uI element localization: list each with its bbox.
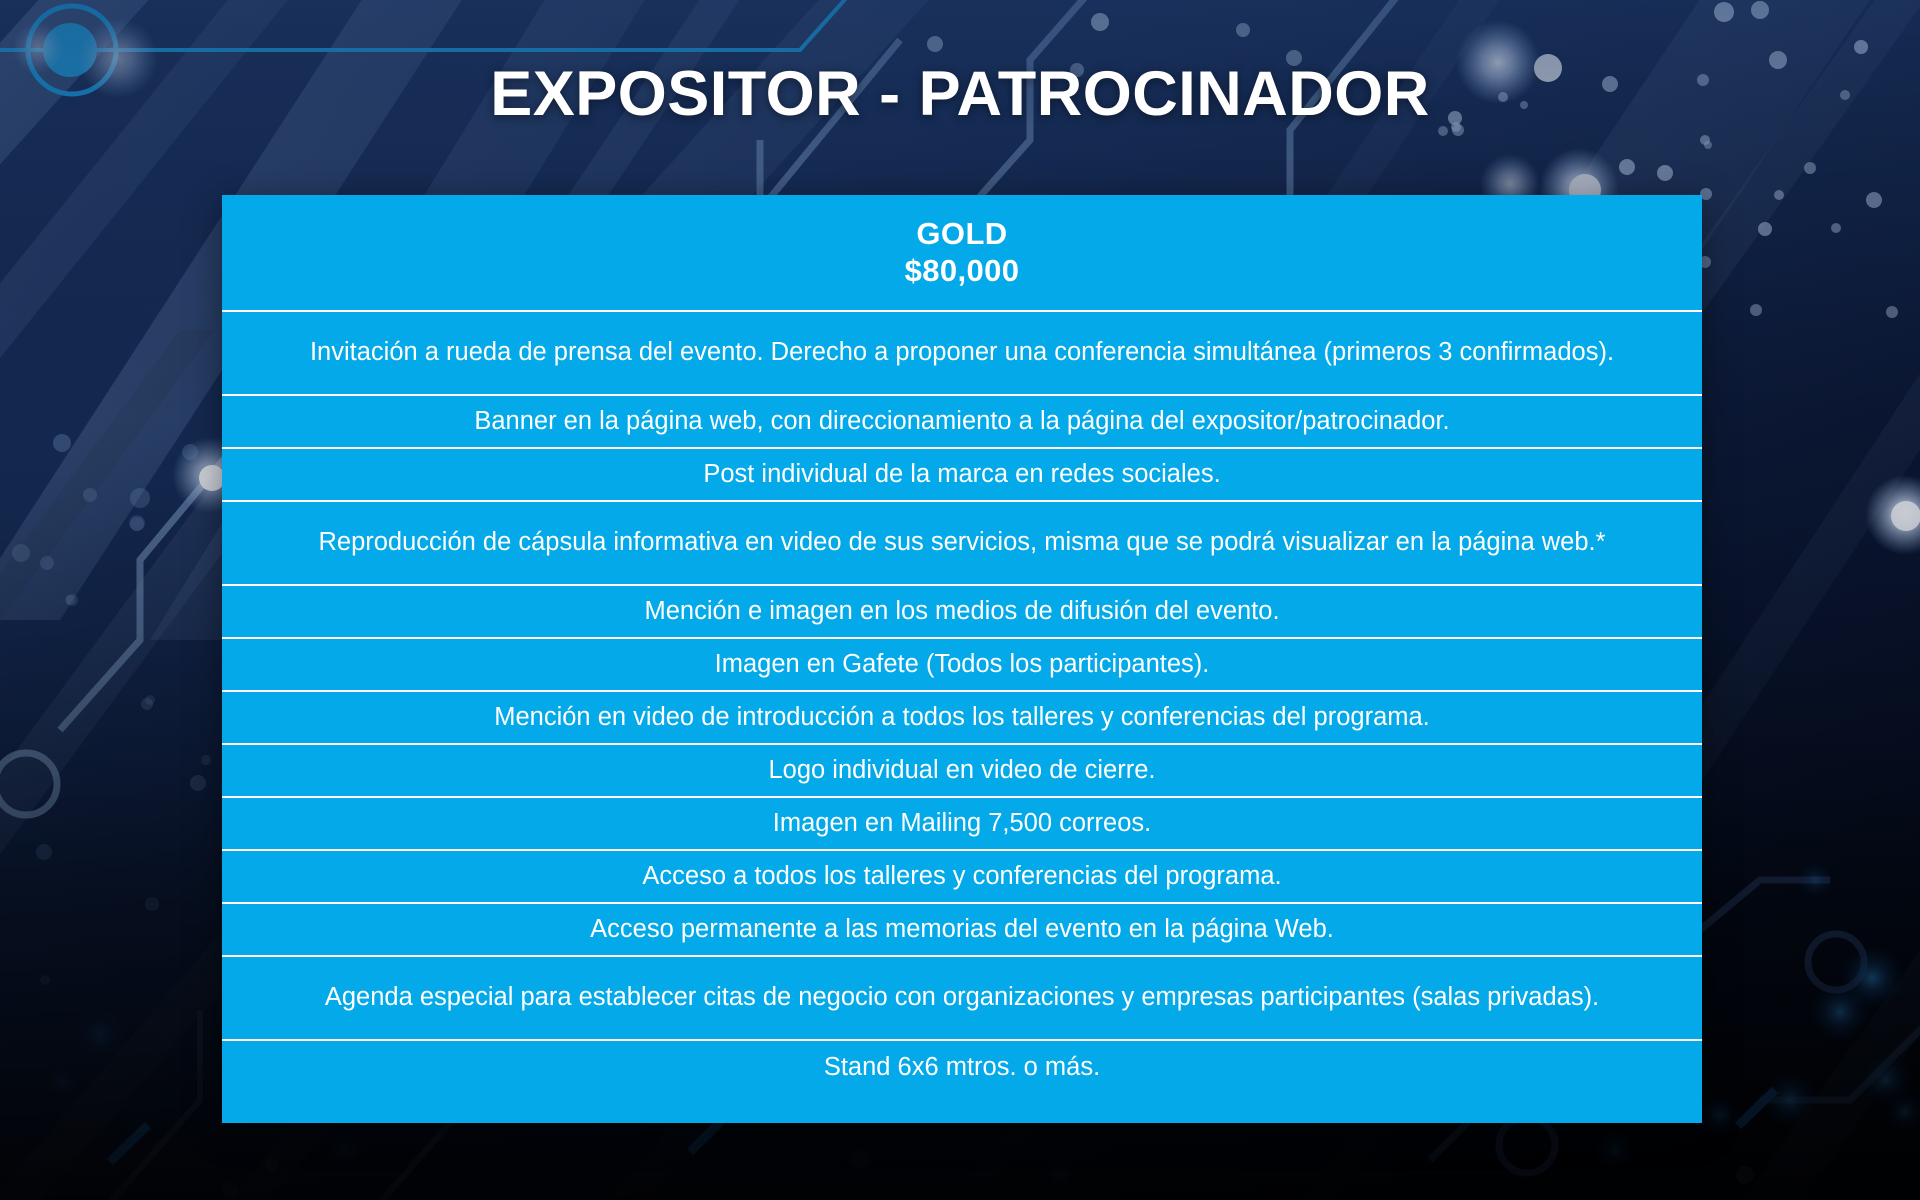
benefit-text: Imagen en Gafete (Todos los participante… — [715, 649, 1210, 681]
benefit-text: Banner en la página web, con direccionam… — [474, 406, 1449, 438]
benefits-list: Invitación a rueda de prensa del evento.… — [222, 312, 1702, 1123]
benefit-text: Acceso a todos los talleres y conferenci… — [642, 861, 1281, 893]
benefit-text: Post individual de la marca en redes soc… — [703, 459, 1220, 491]
benefit-row: Agenda especial para establecer citas de… — [222, 957, 1702, 1041]
benefit-row: Acceso a todos los talleres y conferenci… — [222, 851, 1702, 904]
benefit-row: Stand 6x6 mtros. o más. — [222, 1041, 1702, 1094]
benefit-row: Imagen en Gafete (Todos los participante… — [222, 639, 1702, 692]
page-title-container: EXPOSITOR - PATROCINADOR — [0, 58, 1920, 130]
benefit-row: Post individual de la marca en redes soc… — [222, 449, 1702, 502]
benefit-text: Invitación a rueda de prensa del evento.… — [310, 337, 1614, 369]
benefit-row: Mención en video de introducción a todos… — [222, 692, 1702, 745]
benefit-row: Invitación a rueda de prensa del evento.… — [222, 312, 1702, 396]
benefit-text: Mención e imagen en los medios de difusi… — [644, 596, 1279, 628]
benefit-row: Imagen en Mailing 7,500 correos. — [222, 798, 1702, 851]
benefit-row: Logo individual en video de cierre. — [222, 745, 1702, 798]
benefit-text: Imagen en Mailing 7,500 correos. — [773, 808, 1151, 840]
benefit-row: Banner en la página web, con direccionam… — [222, 396, 1702, 449]
page-title: EXPOSITOR - PATROCINADOR — [490, 58, 1430, 130]
tier-price: $80,000 — [905, 253, 1020, 290]
sponsorship-tier-card: GOLD $80,000 Invitación a rueda de prens… — [222, 195, 1702, 1123]
benefit-text: Logo individual en video de cierre. — [768, 755, 1155, 787]
benefit-text: Agenda especial para establecer citas de… — [325, 982, 1599, 1014]
tier-header: GOLD $80,000 — [222, 195, 1702, 312]
benefit-text: Reproducción de cápsula informativa en v… — [318, 527, 1605, 559]
benefit-text: Mención en video de introducción a todos… — [494, 702, 1430, 734]
benefit-text: Stand 6x6 mtros. o más. — [824, 1052, 1100, 1084]
benefit-row: Acceso permanente a las memorias del eve… — [222, 904, 1702, 957]
benefit-row: Reproducción de cápsula informativa en v… — [222, 502, 1702, 586]
tier-name: GOLD — [916, 216, 1007, 253]
benefit-text: Acceso permanente a las memorias del eve… — [590, 914, 1334, 946]
benefit-row: Mención e imagen en los medios de difusi… — [222, 586, 1702, 639]
